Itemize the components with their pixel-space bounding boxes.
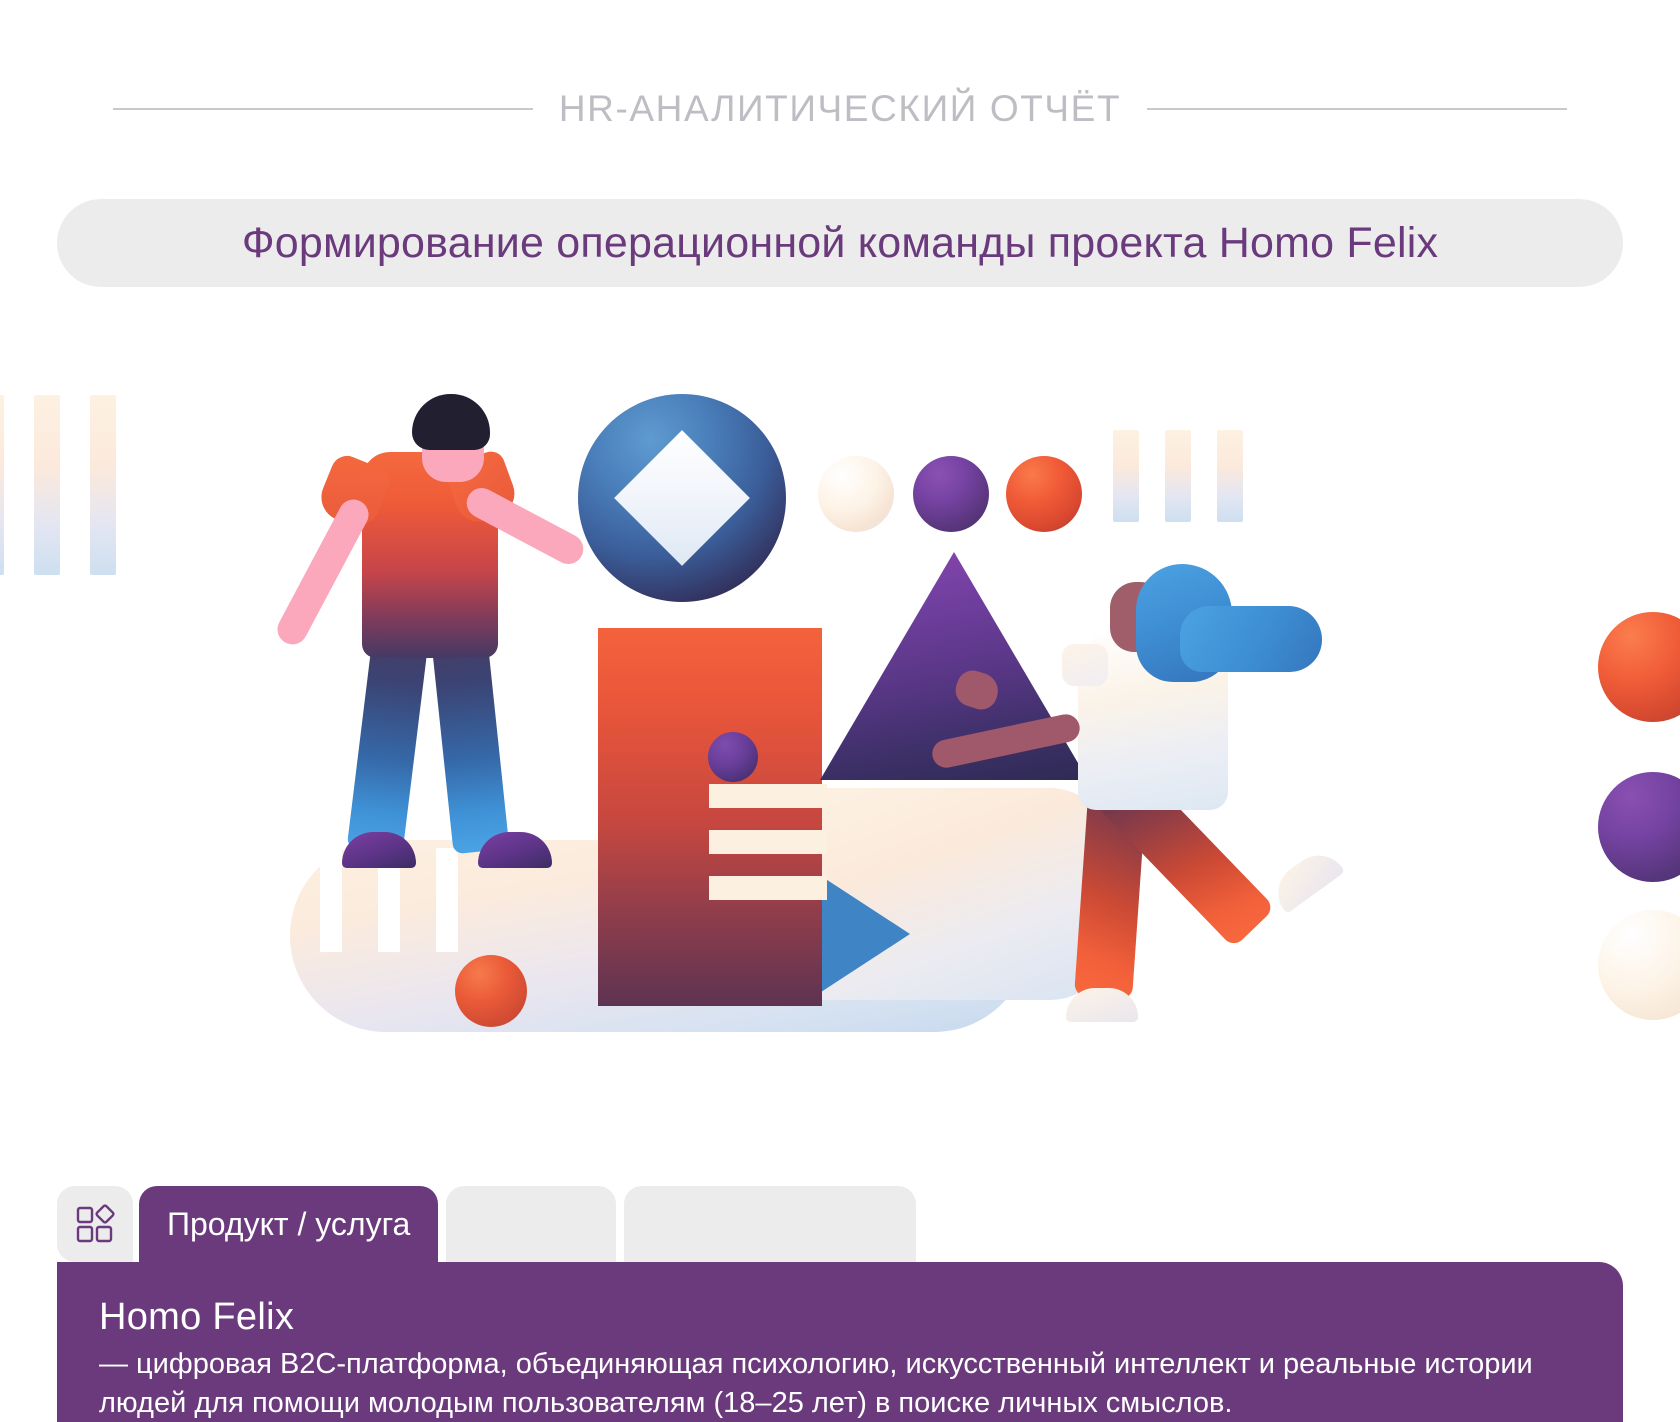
tab-product-service[interactable]: Продукт / услуга — [139, 1186, 438, 1262]
female-hair-tail — [1180, 606, 1322, 672]
accent-bar — [90, 395, 116, 575]
male-arm-left — [272, 494, 374, 649]
male-leg-right — [431, 628, 510, 855]
kicker-label: HR-АНАЛИТИЧЕСКИЙ ОТЧЁТ — [559, 88, 1121, 130]
rect-line — [709, 830, 827, 854]
grid-shapes-icon-button[interactable] — [57, 1186, 133, 1262]
accent-bar — [1217, 430, 1243, 522]
male-hair — [412, 394, 490, 450]
small-sphere-purple — [913, 456, 989, 532]
male-leg-left — [347, 627, 430, 854]
rect-sphere-purple — [708, 732, 758, 782]
slide-root: HR-АНАЛИТИЧЕСКИЙ ОТЧЁТ Формирование опер… — [0, 0, 1680, 1422]
female-shoe-back — [1267, 844, 1345, 914]
arrow-triangle-blue — [818, 874, 910, 994]
decor-sphere-orange — [1598, 612, 1680, 722]
page-title: Формирование операционной команды проект… — [242, 219, 1438, 268]
hero-illustration — [0, 340, 1680, 1100]
accent-bar — [1113, 430, 1139, 522]
tab-label: Продукт / услуга — [167, 1206, 410, 1243]
title-pill: Формирование операционной команды проект… — [57, 199, 1623, 287]
rect-line — [709, 876, 827, 900]
blue-sphere — [578, 394, 786, 602]
panel-description: — цифровая B2C-платформа, объединяющая п… — [99, 1345, 1581, 1422]
small-sphere-orange — [1006, 456, 1082, 532]
rect-line — [709, 784, 827, 808]
female-sleeve-cuff — [1062, 644, 1108, 686]
decor-sphere-purple — [1598, 772, 1680, 882]
decor-sphere-cream — [1598, 910, 1680, 1020]
small-sphere-cream — [818, 456, 894, 532]
grid-shapes-icon — [75, 1204, 115, 1244]
kicker-row: HR-АНАЛИТИЧЕСКИЙ ОТЧЁТ — [0, 88, 1680, 130]
platform-sphere-orange — [455, 955, 527, 1027]
platform-bar — [320, 848, 342, 952]
accent-bar — [34, 395, 60, 575]
kicker-rule-left — [113, 108, 533, 110]
accent-bar — [0, 395, 4, 575]
tab-tertiary[interactable] — [624, 1186, 916, 1262]
detail-panel: Homo Felix — цифровая B2C-платформа, объ… — [57, 1262, 1623, 1422]
rect-line-group — [709, 784, 827, 900]
tab-secondary[interactable] — [446, 1186, 616, 1262]
accent-bar — [1165, 430, 1191, 522]
tab-bar: Продукт / услуга — [57, 1186, 916, 1262]
kicker-rule-right — [1147, 108, 1567, 110]
diamond-icon — [614, 430, 750, 566]
panel-heading: Homo Felix — [99, 1296, 1581, 1339]
left-accent-bars — [0, 395, 116, 575]
platform-bar — [436, 848, 458, 952]
right-accent-bars — [1113, 430, 1243, 522]
